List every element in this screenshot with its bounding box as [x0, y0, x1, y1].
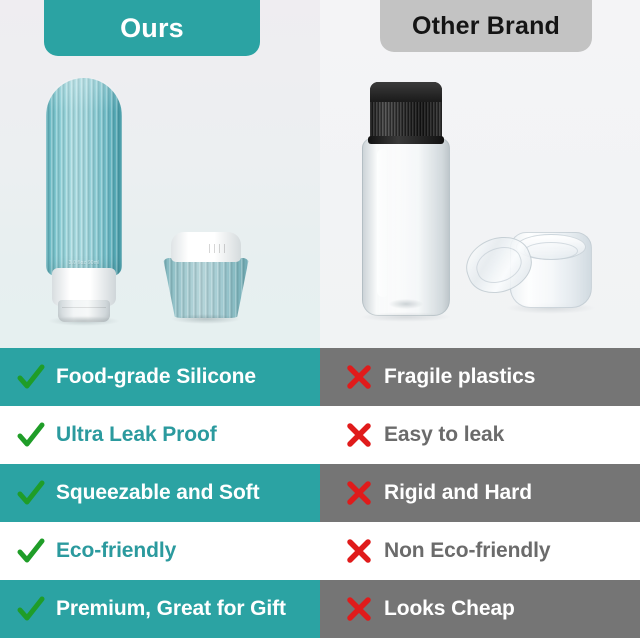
cross-icon	[342, 360, 376, 394]
silicone-bottle-body: 3.0 floz 90ml	[46, 78, 122, 276]
ours-feature-label: Ultra Leak Proof	[56, 423, 217, 447]
other-cell: Fragile plastics	[320, 348, 640, 406]
hero-product-area: 3.0 floz 90ml	[0, 0, 640, 348]
plastic-bottle-cap	[370, 82, 442, 144]
plastic-bottle-body	[362, 138, 450, 316]
ours-badge: Ours	[44, 0, 260, 56]
other-feature-label: Fragile plastics	[384, 365, 535, 389]
table-row: Food-grade Silicone Fragile plastics	[0, 348, 640, 406]
ours-feature-label: Squeezable and Soft	[56, 481, 259, 505]
ours-cell: Ultra Leak Proof	[0, 406, 320, 464]
silicone-jar-lid-grip-icon	[209, 244, 227, 253]
other-cell: Easy to leak	[320, 406, 640, 464]
acrylic-jar-image	[466, 228, 592, 328]
plastic-bottle-cap-top	[370, 82, 442, 102]
plastic-bottle-shadow	[360, 312, 452, 322]
acrylic-jar-inner-ring	[524, 242, 578, 260]
other-brand-badge-label: Other Brand	[412, 12, 560, 41]
check-icon	[14, 360, 48, 394]
table-row: Squeezable and Soft Rigid and Hard	[0, 464, 640, 522]
silicone-bottle-image: 3.0 floz 90ml	[46, 78, 122, 320]
silicone-jar-shadow	[171, 314, 241, 324]
cross-icon	[342, 592, 376, 626]
ours-cell: Squeezable and Soft	[0, 464, 320, 522]
table-row: Eco-friendly Non Eco-friendly	[0, 522, 640, 580]
table-row: Premium, Great for Gift Looks Cheap	[0, 580, 640, 638]
other-feature-label: Looks Cheap	[384, 597, 515, 621]
other-feature-label: Rigid and Hard	[384, 481, 532, 505]
silicone-bottle-shadow	[48, 316, 120, 326]
ours-badge-label: Ours	[120, 13, 184, 44]
plastic-bottle-cap-lip	[368, 136, 444, 144]
check-icon	[14, 592, 48, 626]
other-feature-label: Non Eco-friendly	[384, 539, 550, 563]
ours-cell: Eco-friendly	[0, 522, 320, 580]
silicone-jar-body	[163, 258, 249, 318]
ours-cell: Premium, Great for Gift	[0, 580, 320, 638]
comparison-table: Food-grade Silicone Fragile plastics Ult…	[0, 348, 640, 640]
other-cell: Non Eco-friendly	[320, 522, 640, 580]
plastic-bottle-base	[389, 299, 423, 309]
check-icon	[14, 476, 48, 510]
other-brand-badge: Other Brand	[380, 0, 592, 52]
silicone-jar-image	[163, 232, 249, 332]
check-icon	[14, 534, 48, 568]
table-row: Ultra Leak Proof Easy to leak	[0, 406, 640, 464]
plastic-bottle-image	[358, 82, 454, 322]
product-comparison-infographic: 3.0 floz 90ml	[0, 0, 640, 640]
cross-icon	[342, 418, 376, 452]
cross-icon	[342, 476, 376, 510]
ours-feature-label: Premium, Great for Gift	[56, 597, 286, 621]
ours-cell: Food-grade Silicone	[0, 348, 320, 406]
ours-feature-label: Food-grade Silicone	[56, 365, 256, 389]
check-icon	[14, 418, 48, 452]
ours-feature-label: Eco-friendly	[56, 539, 176, 563]
silicone-jar-lid	[171, 232, 241, 262]
silicone-bottle-volume-label: 3.0 floz 90ml	[61, 260, 107, 266]
other-cell: Looks Cheap	[320, 580, 640, 638]
other-feature-label: Easy to leak	[384, 423, 504, 447]
other-cell: Rigid and Hard	[320, 464, 640, 522]
cross-icon	[342, 534, 376, 568]
